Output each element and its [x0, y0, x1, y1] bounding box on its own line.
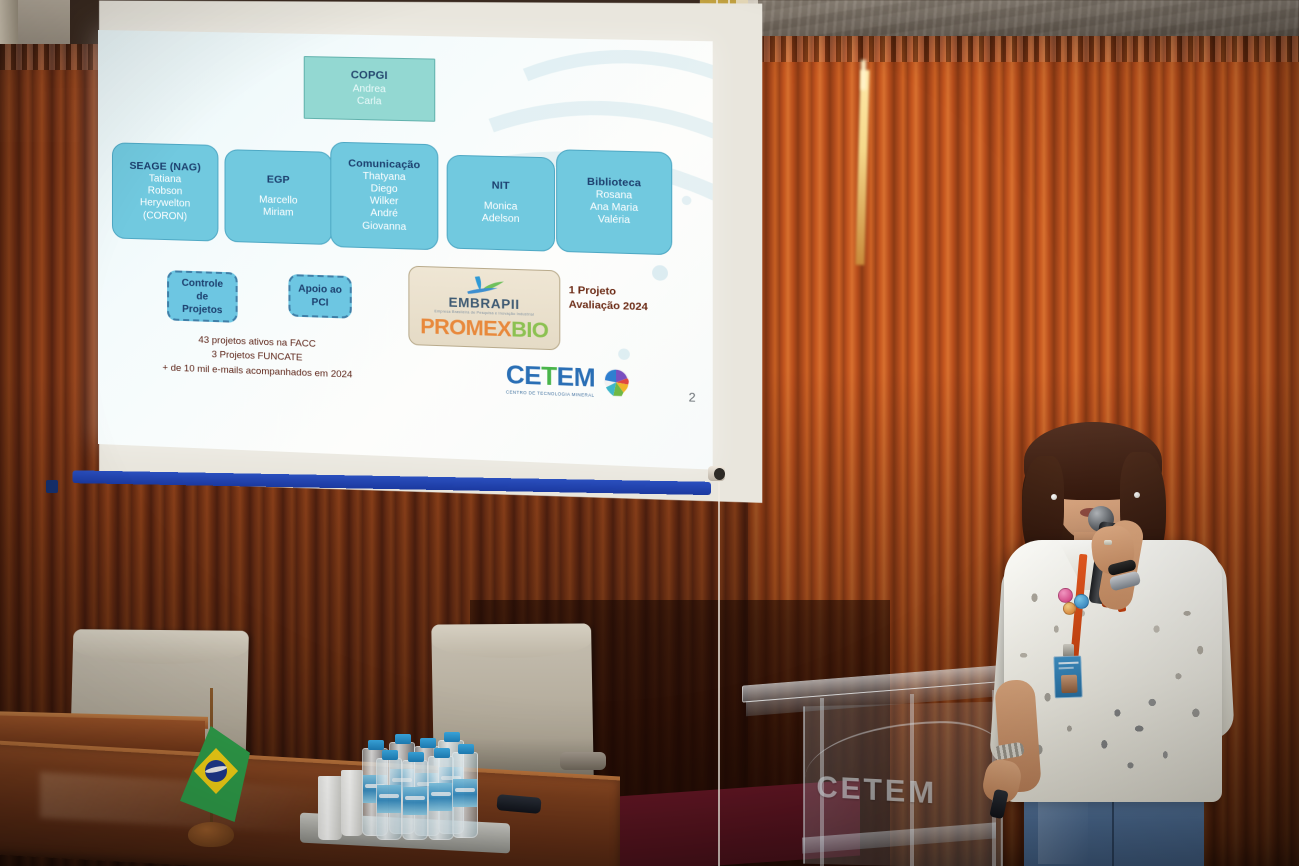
- org-box-biblioteca: Biblioteca Rosana Ana Maria Valéria: [556, 149, 672, 255]
- cetem-em: EM: [557, 363, 595, 393]
- projection-screen: COPGI Andrea Carla SEAGE (NAG) Tatiana R…: [62, 2, 762, 502]
- bottle-label: [453, 779, 477, 807]
- flag-wooden-base: [188, 822, 234, 847]
- org-box-name: Miriam: [263, 207, 294, 220]
- id-badge: [1053, 656, 1082, 699]
- bottle-label: [429, 783, 453, 811]
- dashed-box-line: Projetos: [182, 302, 222, 316]
- org-box-name: Wilker: [370, 196, 399, 209]
- org-box-name: Adelson: [482, 213, 520, 227]
- bottle-cap: [444, 732, 460, 742]
- org-box-name: Rosana: [596, 189, 632, 203]
- slide-page-number: 2: [689, 390, 696, 405]
- chair-armrest-right: [560, 752, 606, 770]
- org-box-egp: EGP Marcello Miriam: [225, 149, 333, 245]
- dashed-box-line: de: [196, 290, 208, 303]
- plastic-cup-stack-1: [318, 776, 342, 840]
- bottle-cap: [434, 748, 450, 758]
- brazilian-flag: [160, 688, 270, 866]
- bottle-label: [377, 785, 401, 813]
- cetem-ce: CE: [506, 361, 541, 391]
- bio-text: BIO: [511, 317, 548, 342]
- dashed-box-line: Controle: [182, 276, 223, 290]
- jeans-seam: [1112, 802, 1114, 866]
- dashed-box-line: Apoio ao: [298, 282, 342, 297]
- cetem-t: T: [541, 362, 556, 391]
- org-box-name: André: [370, 208, 397, 221]
- dashed-box-controle-projetos: Controle de Projetos: [167, 270, 238, 323]
- chair-backrest-top: [73, 629, 249, 664]
- project-evaluation-note: 1 Projeto Avaliação 2024: [569, 283, 704, 317]
- bottle-cap: [368, 740, 384, 750]
- presentation-slide: COPGI Andrea Carla SEAGE (NAG) Tatiana R…: [98, 30, 713, 470]
- lanyard-pins: [1058, 586, 1092, 618]
- bottle-cap: [458, 744, 474, 754]
- badge-role-line: [1059, 667, 1074, 669]
- promexbio-wordmark: PROMEXBIO: [420, 314, 548, 343]
- screen-roller-knob: [714, 468, 725, 480]
- slide-decor-dot-3: [682, 196, 692, 206]
- org-box-name: Robson: [148, 186, 183, 199]
- org-box-name: Tatiana: [149, 173, 181, 186]
- cetem-wordmark: CETEM: [506, 363, 595, 392]
- org-box-nit: NIT Monica Adelson: [447, 155, 555, 252]
- cetem-logo-text-block: CETEM CENTRO DE TECNOLOGIA MINERAL: [506, 363, 595, 398]
- dashed-box-line: PCI: [312, 296, 329, 310]
- org-box-name: Carla: [357, 95, 382, 108]
- photo-scene: COPGI Andrea Carla SEAGE (NAG) Tatiana R…: [0, 0, 1299, 866]
- pin-badge-blue: [1074, 594, 1089, 609]
- org-box-header: NIT: [492, 180, 510, 194]
- speaker-person: [962, 422, 1262, 866]
- water-bottle: [402, 760, 428, 840]
- org-box-name: (CORON): [143, 210, 187, 224]
- org-box-name: Marcello: [259, 195, 297, 208]
- org-box-header: SEAGE (NAG): [129, 160, 200, 175]
- badge-name-line: [1058, 662, 1078, 665]
- finger-ring: [1104, 540, 1112, 545]
- promex-text: PROMEX: [420, 314, 511, 341]
- slide-decor-dot-2: [618, 348, 630, 360]
- bottle-cap: [420, 738, 436, 748]
- water-bottle: [428, 756, 454, 840]
- bottle-label: [403, 787, 427, 815]
- org-box-header: COPGI: [351, 69, 388, 83]
- pin-badge-pink: [1058, 588, 1073, 603]
- bottle-cap: [408, 752, 424, 762]
- org-box-copgi: COPGI Andrea Carla: [304, 56, 436, 122]
- plastic-cup-stack-2: [341, 770, 363, 836]
- org-box-seage: SEAGE (NAG) Tatiana Robson Herywelton (C…: [112, 142, 218, 241]
- pin-badge-orange: [1063, 602, 1076, 615]
- leaf-icon: [461, 274, 507, 296]
- water-bottle: [376, 758, 402, 840]
- chair-backrest-top: [431, 623, 591, 658]
- badge-photo: [1061, 675, 1078, 694]
- dashed-box-apoio-pci: Apoio ao PCI: [288, 274, 351, 319]
- earring-right: [1134, 492, 1140, 498]
- org-box-header: EGP: [267, 174, 290, 188]
- curtain-light-gap-top: [861, 60, 866, 90]
- org-box-name: Andrea: [353, 83, 386, 96]
- screen-pull-cord-3: [718, 482, 720, 866]
- org-box-name: Thatyana: [363, 171, 406, 185]
- org-box-comunicacao: Comunicação Thatyana Diego Wilker André …: [330, 142, 438, 251]
- org-box-name: Diego: [371, 183, 398, 196]
- bottle-cap: [382, 750, 398, 760]
- org-box-name: Valéria: [598, 214, 630, 227]
- cetem-brain-icon: [601, 367, 631, 399]
- screen-bar-end-left: [46, 480, 58, 493]
- embrapii-promexbio-logo-card: EMBRAPII Empresa Brasileira de Pesquisa …: [408, 266, 560, 351]
- org-box-name: Giovanna: [362, 220, 406, 234]
- slide-decor-dot-1: [652, 265, 668, 281]
- podium-cetem-engraving: CETEM: [816, 769, 937, 811]
- org-box-name: Monica: [484, 201, 518, 214]
- earring-left: [1051, 494, 1057, 500]
- slide-statistics: 43 projetos ativos na FACC 3 Projetos FU…: [116, 331, 400, 384]
- bottle-cap: [395, 734, 411, 744]
- water-bottle: [452, 752, 478, 838]
- org-box-header: Comunicação: [348, 157, 420, 172]
- cetem-logo: CETEM CENTRO DE TECNOLOGIA MINERAL: [506, 363, 631, 399]
- jeans-highlight: [1038, 794, 1088, 864]
